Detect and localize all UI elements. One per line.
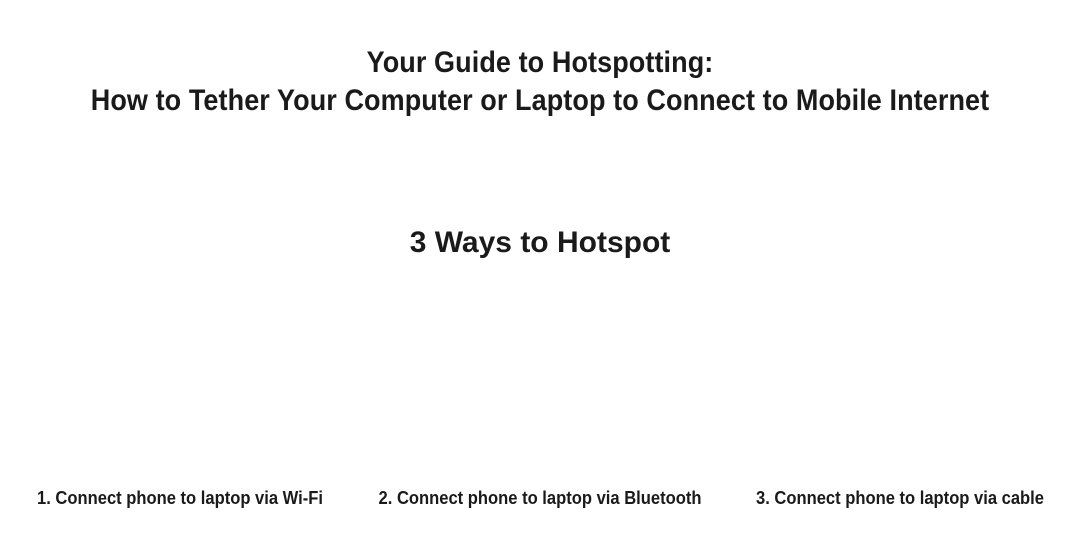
page-title: Your Guide to Hotspotting: How to Tether…: [0, 44, 1080, 120]
caption-row: 1. Connect phone to laptop via Wi-Fi 2. …: [0, 486, 1080, 516]
title-line-1: Your Guide to Hotspotting:: [54, 44, 1026, 82]
title-line-2: How to Tether Your Computer or Laptop to…: [54, 82, 1026, 120]
infographic-page: Your Guide to Hotspotting: How to Tether…: [0, 0, 1080, 552]
illustration-slot-wifi: [0, 280, 360, 476]
method-caption-cable: 3. Connect phone to laptop via cable: [734, 486, 1065, 516]
illustration-area: [0, 280, 1080, 476]
section-heading: 3 Ways to Hotspot: [0, 224, 1080, 262]
illustration-slot-bluetooth: [360, 280, 720, 476]
method-caption-wifi: 1. Connect phone to laptop via Wi-Fi: [14, 486, 345, 516]
illustration-slot-cable: [720, 280, 1080, 476]
method-caption-bluetooth: 2. Connect phone to laptop via Bluetooth: [374, 486, 705, 516]
